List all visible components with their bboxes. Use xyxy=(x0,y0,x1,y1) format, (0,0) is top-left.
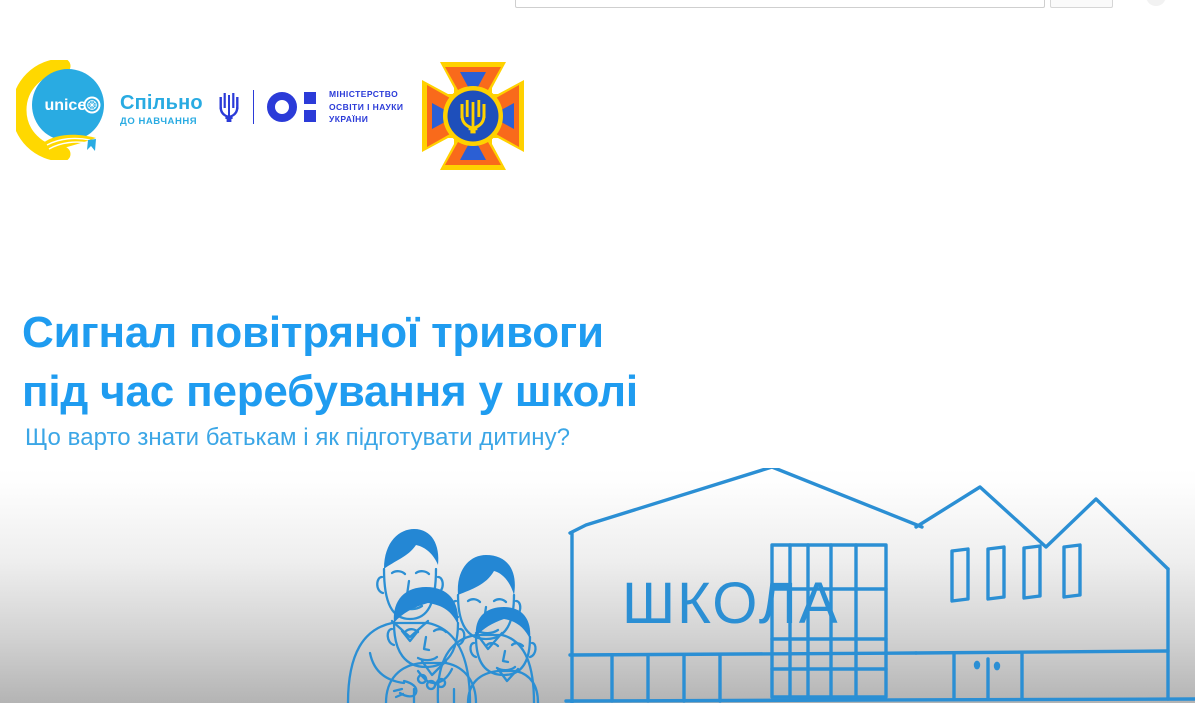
dsns-cross-icon xyxy=(412,52,534,180)
logo-row: unicef Спільно ДО НАВЧАННЯ xyxy=(0,52,1195,182)
dsns-emergency-service-emblem xyxy=(412,52,534,180)
ring-icon xyxy=(267,92,297,122)
trident-icon xyxy=(218,91,240,123)
cropped-toolbar-strip xyxy=(0,0,1195,10)
ministry-line-1: МІНІСТЕРСТВО xyxy=(329,88,403,101)
ministry-of-education-logo: МІНІСТЕРСТВО ОСВІТИ І НАУКИ УКРАЇНИ xyxy=(218,88,403,126)
illustration-band: ШКОЛА xyxy=(0,468,1195,703)
squares-icon xyxy=(304,92,316,122)
family-illustration xyxy=(330,503,540,703)
search-input[interactable] xyxy=(515,0,1045,8)
unicef-subtitle: ДО НАВЧАННЯ xyxy=(120,117,203,127)
ministry-line-2: ОСВІТИ І НАУКИ xyxy=(329,101,403,114)
toolbar-button[interactable] xyxy=(1050,0,1113,8)
school-sign-text: ШКОЛА xyxy=(622,571,840,636)
avatar[interactable] xyxy=(1146,0,1166,6)
ministry-name-text: МІНІСТЕРСТВО ОСВІТИ І НАУКИ УКРАЇНИ xyxy=(329,88,403,126)
slide-root: unicef Спільно ДО НАВЧАННЯ xyxy=(0,0,1195,703)
unicef-lockup-text: Спільно ДО НАВЧАННЯ xyxy=(120,93,203,127)
ministry-line-3: УКРАЇНИ xyxy=(329,113,403,126)
unicef-logo-icon: unicef xyxy=(16,60,116,160)
page-title-line-1: Сигнал повітряної тривоги xyxy=(22,304,882,363)
page-title: Сигнал повітряної тривоги під час перебу… xyxy=(22,304,882,421)
logo-divider xyxy=(253,90,254,124)
mon-symbol-icon xyxy=(267,92,316,122)
school-illustration: ШКОЛА xyxy=(556,468,1195,703)
unicef-title: Спільно xyxy=(120,93,203,113)
page-title-line-2: під час перебування у школі xyxy=(22,363,882,422)
page-subtitle: Що варто знати батькам і як підготувати … xyxy=(25,424,570,452)
unicef-spilno-logo: unicef Спільно ДО НАВЧАННЯ xyxy=(16,60,203,160)
